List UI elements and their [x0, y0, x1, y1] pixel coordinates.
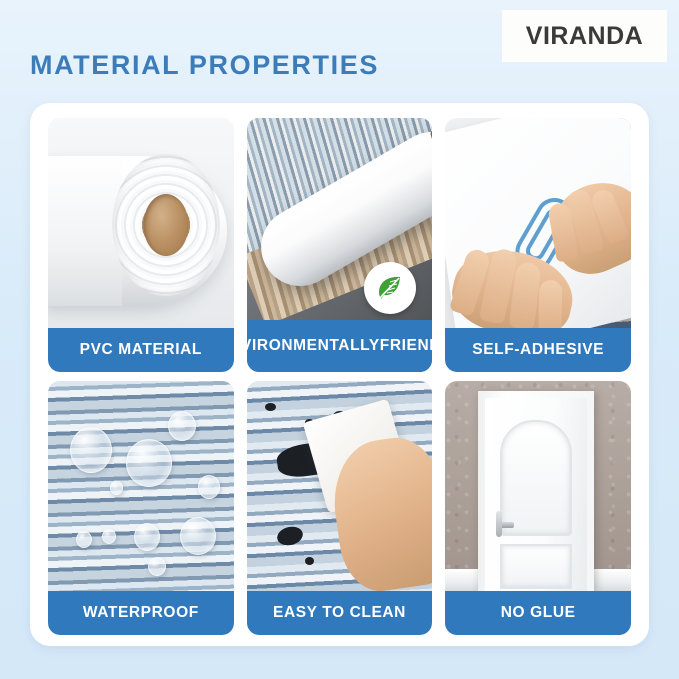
- feature-label-waterproof: WATERPROOF: [48, 591, 234, 635]
- page-title: MATERIAL PROPERTIES: [30, 50, 379, 81]
- feature-tile-self-adhesive[interactable]: SELF-ADHESIVE: [445, 118, 631, 372]
- feature-label-self-adhesive: SELF-ADHESIVE: [445, 328, 631, 372]
- feature-tile-environmentally-friendly[interactable]: ENVIRONMENTALLY FRIENDLY: [247, 118, 433, 372]
- features-card: PVC MATERIAL: [30, 103, 649, 646]
- feature-tile-easy-to-clean[interactable]: EASY TO CLEAN: [247, 381, 433, 635]
- leaf-icon: [373, 271, 407, 305]
- feature-label-easy-to-clean: EASY TO CLEAN: [247, 591, 433, 635]
- brand-logo: VIRANDA: [502, 10, 667, 62]
- feature-label-line2: FRIENDLY: [380, 338, 433, 355]
- features-grid: PVC MATERIAL: [48, 118, 631, 635]
- feature-label-environmentally-friendly: ENVIRONMENTALLY FRIENDLY: [247, 320, 433, 372]
- infographic-page: VIRANDA MATERIAL PROPERTIES PVC MATERIAL: [0, 0, 679, 679]
- feature-label-line1: ENVIRONMENTALLY: [247, 338, 380, 355]
- feature-label-pvc-material: PVC MATERIAL: [48, 328, 234, 372]
- feature-tile-waterproof[interactable]: WATERPROOF: [48, 381, 234, 635]
- feature-label-no-glue: NO GLUE: [445, 591, 631, 635]
- feature-tile-no-glue[interactable]: NO GLUE: [445, 381, 631, 635]
- feature-tile-pvc-material[interactable]: PVC MATERIAL: [48, 118, 234, 372]
- eco-leaf-badge: [364, 262, 416, 314]
- brand-name: VIRANDA: [526, 22, 643, 51]
